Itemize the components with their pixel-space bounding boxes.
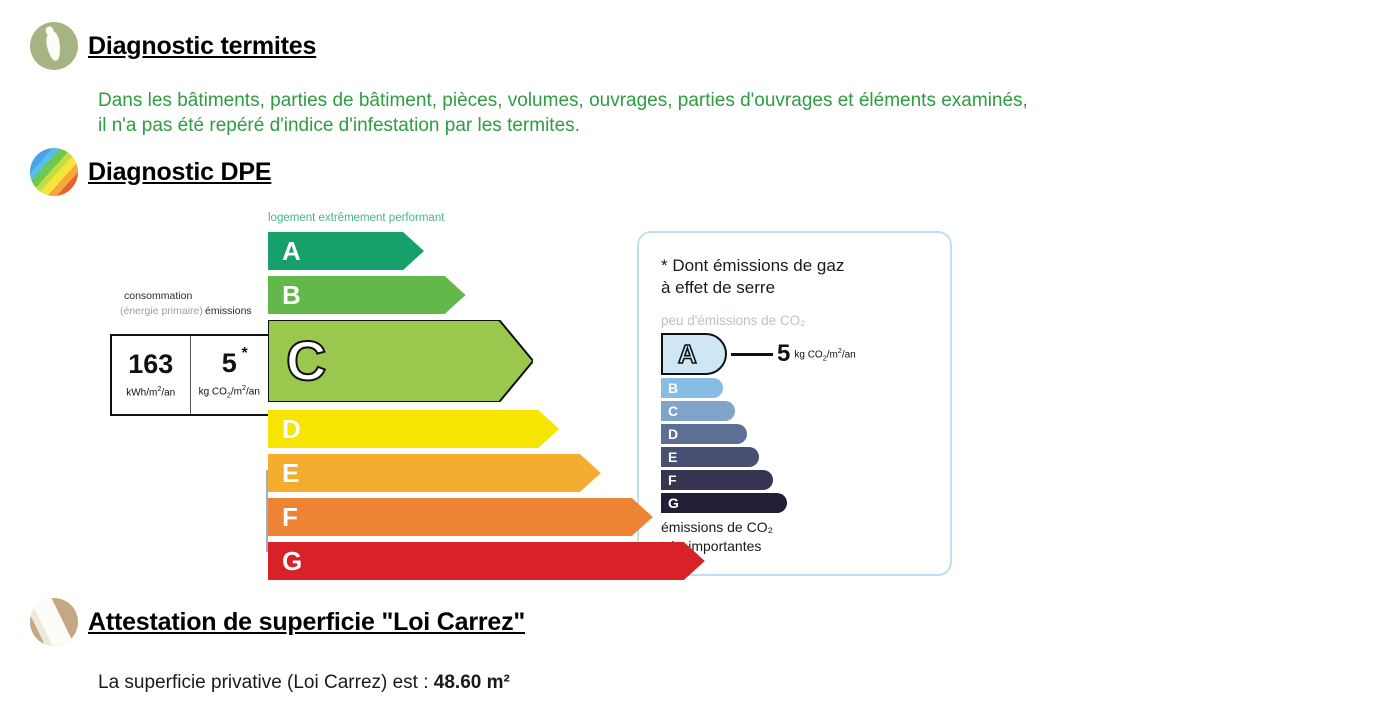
termites-body-line2: il n'a pas été repéré d'indice d'infesta… [98,113,580,138]
co2-bar-C: C [661,401,735,421]
consumption-value: 163 [128,351,173,378]
carrez-surface-value: 48.60 m² [434,672,510,693]
termite-icon [30,22,78,70]
energy-bar-E: E [268,454,601,492]
energy-bar-shape-G [268,542,705,580]
carrez-heading-row: Attestation de superficie "Loi Carrez" [30,598,525,646]
label-consommation: consommation [124,290,192,302]
co2-panel: * Dont émissions de gaz à effet de serre… [637,231,952,576]
co2-value-unit: kg CO2/m2/an [794,346,855,362]
co2-bar-letter-A: A [670,339,697,370]
co2-bar-letter-F: F [668,472,677,488]
section-carrez: Attestation de superficie "Loi Carrez" [30,598,525,646]
energy-bar-shape-D [268,410,559,448]
energy-bar-letter-C: C [268,333,326,389]
carrez-title: Attestation de superficie "Loi Carrez" [88,608,525,637]
co2-row-D: D [661,424,856,444]
co2-subtitle: peu d'émissions de CO₂ [661,313,805,328]
co2-row-G: G [661,493,856,513]
co2-title-line1: * Dont émissions de gaz [661,255,844,277]
co2-bar-E: E [661,447,759,467]
co2-bar-letter-D: D [668,426,678,442]
energy-bar-A: A [268,232,424,270]
energy-bar-B: B [268,276,466,314]
co2-bar-A: A [661,333,727,375]
energy-bar-letter-A: A [268,238,301,264]
energy-bar-letter-F: F [268,504,298,530]
energy-bar-D: D [268,410,559,448]
energy-value-box: 163 kWh/m2/an 5* kg CO2/m2/an [110,334,268,416]
section-dpe: Diagnostic DPE [30,148,271,196]
emissions-cell: 5* kg CO2/m2/an [191,336,269,414]
co2-row-C: C [661,401,856,421]
co2-row-A: A5kg CO2/m2/an [661,333,856,375]
co2-bar-F: F [661,470,773,490]
co2-connector-line [731,353,773,356]
label-consommation-sub: (énergie primaire) [120,305,203,317]
co2-bar-letter-E: E [668,449,677,465]
co2-bar-list: A5kg CO2/m2/anBCDEFG [661,333,856,516]
termites-title: Diagnostic termites [88,32,316,61]
rainbow-stripes [30,148,78,196]
energy-bar-letter-B: B [268,282,301,308]
dpe-title: Diagnostic DPE [88,158,271,187]
co2-row-F: F [661,470,856,490]
carrez-body-prefix: La superficie privative (Loi Carrez) est… [98,672,434,693]
energy-bar-C: C [268,320,533,402]
termites-body-line1: Dans les bâtiments, parties de bâtiment,… [98,88,1028,113]
co2-value: 5 [777,340,790,368]
co2-bar-B: B [661,378,723,398]
co2-bar-G: G [661,493,787,513]
energy-bar-letter-D: D [268,416,301,442]
rainbow-icon [30,148,78,196]
energy-bar-shape-E [268,454,601,492]
dpe-heading-row: Diagnostic DPE [30,148,271,196]
ruler-icon [30,598,78,646]
co2-title-line2: à effet de serre [661,277,844,299]
co2-bar-letter-C: C [668,403,678,419]
energy-bar-shape-F [268,498,653,536]
emissions-value: 5* [222,350,237,377]
co2-row-E: E [661,447,856,467]
consumption-cell: 163 kWh/m2/an [112,336,191,414]
energy-bar-letter-G: G [268,548,302,574]
co2-footer-line1: émissions de CO₂ [661,518,773,537]
emissions-star: * [242,346,248,362]
label-emissions: émissions [205,305,252,317]
termite-glyph [45,30,63,62]
co2-bar-D: D [661,424,747,444]
emissions-unit: kg CO2/m2/an [199,383,260,399]
consumption-unit: kWh/m2/an [126,384,175,398]
co2-row-B: B [661,378,856,398]
energy-bar-G: G [268,542,705,580]
co2-bar-letter-G: G [668,495,679,511]
energy-bar-F: F [268,498,653,536]
section-termites: Diagnostic termites [30,22,316,70]
co2-bar-letter-B: B [668,380,678,396]
carrez-body: La superficie privative (Loi Carrez) est… [98,672,510,694]
co2-panel-title: * Dont émissions de gaz à effet de serre [661,255,844,299]
energy-caption-top: logement extrêmement performant [268,212,444,224]
energy-bar-letter-E: E [268,460,299,486]
termites-heading-row: Diagnostic termites [30,22,316,70]
